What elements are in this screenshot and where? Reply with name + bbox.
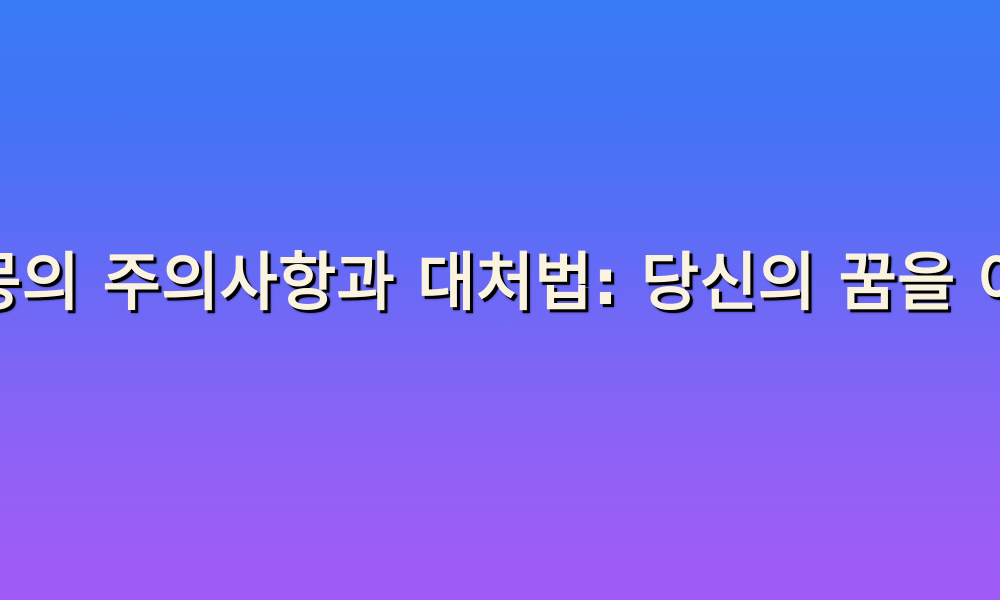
gradient-background: [0, 0, 1000, 600]
banner-canvas: 몽의 주의사항과 대처법: 당신의 꿈을 어: [0, 0, 1000, 600]
